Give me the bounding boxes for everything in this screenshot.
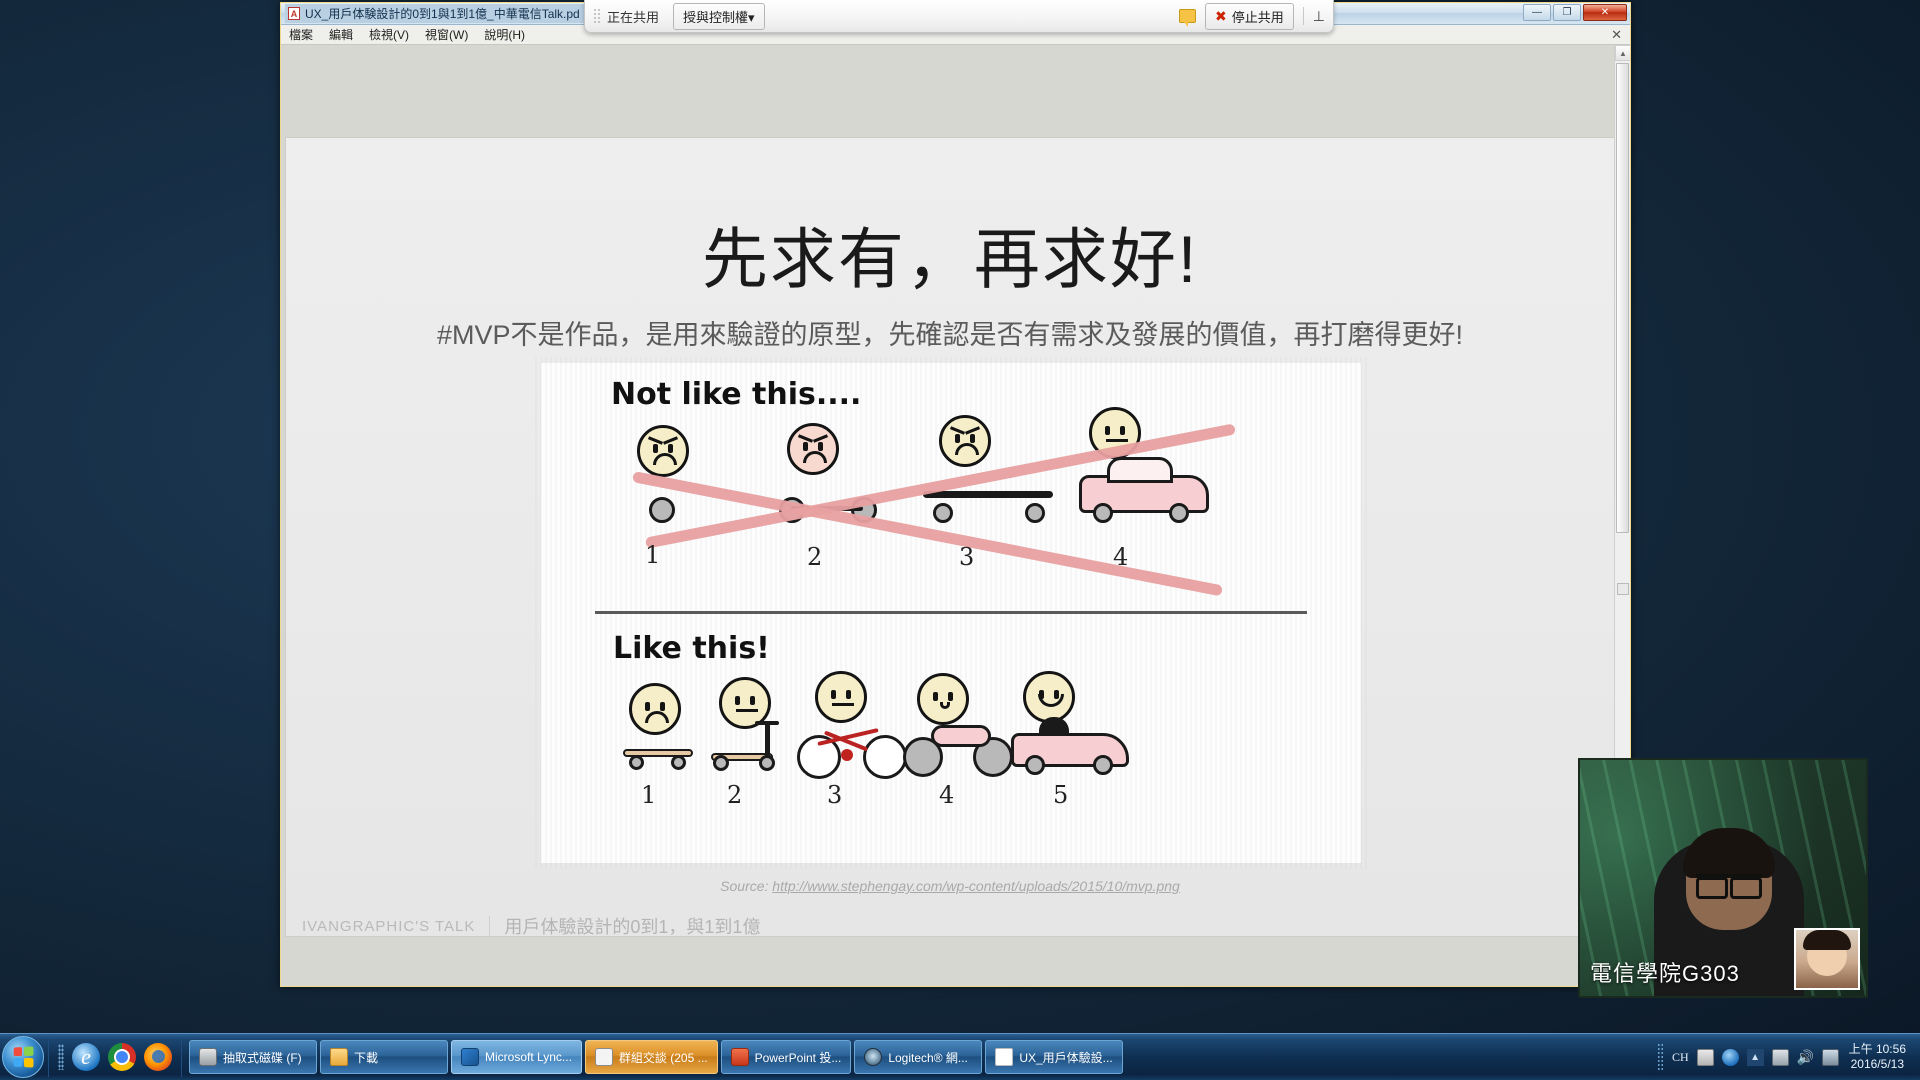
- room-label: 電信學院G303: [1590, 956, 1740, 988]
- taskbar-item-lync[interactable]: Microsoft Lync...: [451, 1040, 582, 1074]
- network-icon[interactable]: [1822, 1049, 1839, 1066]
- taskbar-item-label: 下載: [354, 1049, 378, 1066]
- slide-subtitle: #MVP不是作品，是用來驗證的原型，先確認是否有需求及發展的價值，再打磨得更好!: [286, 313, 1614, 352]
- chat-bubble-icon[interactable]: [1179, 9, 1196, 23]
- face-content-4: [917, 673, 969, 725]
- firefox-icon[interactable]: [144, 1043, 172, 1071]
- menu-item-view[interactable]: 檢視(V): [369, 26, 409, 43]
- keyboard-ime-icon[interactable]: [1697, 1049, 1714, 1066]
- scrollbar-thumb[interactable]: [1616, 63, 1629, 533]
- source-credit: Source: http://www.stephengay.com/wp-con…: [286, 878, 1614, 894]
- footer-separator: [489, 916, 490, 936]
- taskbar-item-logitech-webcam[interactable]: Logitech® 網...: [854, 1040, 982, 1074]
- taskbar-item-label: Logitech® 網...: [888, 1049, 968, 1066]
- taskbar-item-label: 抽取式磁碟 (F): [223, 1049, 302, 1066]
- pdf-icon: [995, 1048, 1013, 1066]
- webcam-overlay[interactable]: 電信學院G303: [1578, 758, 1868, 998]
- figure-number-good-3: 3: [827, 781, 842, 809]
- figure-number-good-4: 4: [939, 781, 954, 809]
- menu-item-window[interactable]: 視窗(W): [425, 26, 468, 43]
- group-chat-icon: [595, 1048, 613, 1066]
- windows-flag-icon: [14, 1046, 34, 1067]
- secondary-video-thumbnail[interactable]: [1794, 928, 1860, 990]
- chrome-icon[interactable]: [108, 1043, 136, 1071]
- menu-item-file[interactable]: 檔案: [289, 26, 313, 43]
- face-neutral-3: [815, 671, 867, 723]
- drag-grip-icon[interactable]: [1657, 1043, 1664, 1071]
- pdf-icon: [288, 7, 300, 20]
- figure-number-good-1: 1: [641, 781, 656, 809]
- face-angry-2: [787, 423, 839, 475]
- figure-number-bad-1: 1: [645, 541, 660, 569]
- window-controls: — ❐ ✕: [1523, 4, 1627, 21]
- presenter-hair: [1683, 828, 1775, 878]
- ie-icon[interactable]: [72, 1043, 100, 1071]
- face-angry-3: [939, 415, 991, 467]
- taskbar-item-label: UX_用戶体驗設...: [1019, 1049, 1112, 1066]
- lync-sharing-toolbar: 正在共用 授與控制權▾ ✖ 停止共用 ⊥: [584, 0, 1334, 33]
- windows-start-orb[interactable]: [2, 1036, 44, 1078]
- taskbar-item-group-chat[interactable]: 群組交談 (205 ...: [585, 1040, 718, 1074]
- taskbar-item-downloads[interactable]: 下載: [320, 1040, 448, 1074]
- face-happy-5: [1023, 671, 1075, 723]
- stop-sharing-label: 停止共用: [1232, 7, 1284, 26]
- drag-grip-icon[interactable]: [58, 1044, 64, 1070]
- scroll-up-arrow[interactable]: ▲: [1615, 45, 1630, 61]
- volume-speaker-icon[interactable]: 🔊: [1797, 1049, 1814, 1066]
- presenter-head: [1686, 834, 1772, 930]
- taskbar-item-pdf[interactable]: UX_用戶体驗設...: [985, 1040, 1122, 1074]
- scrollbar-split-handle[interactable]: [1617, 583, 1629, 595]
- figure-bad-label: Not like this....: [611, 377, 861, 412]
- chevron-down-icon: ▾: [748, 10, 755, 25]
- webcam-icon: [864, 1048, 882, 1066]
- powerpoint-icon: [731, 1048, 749, 1066]
- taskbar-item-removable-drive[interactable]: 抽取式磁碟 (F): [189, 1040, 317, 1074]
- vehicle-wheel-single: [649, 497, 675, 523]
- figure-number-bad-2: 2: [807, 543, 822, 571]
- clock-date: 2016/5/13: [1849, 1057, 1906, 1072]
- figure-good-label: Like this!: [613, 631, 770, 666]
- pdf-page: 先求有，再求好! #MVP不是作品，是用來驗證的原型，先確認是否有需求及發展的價…: [285, 137, 1615, 937]
- clock-time: 上午 10:56: [1849, 1042, 1906, 1057]
- pin-icon[interactable]: ⊥: [1313, 8, 1325, 25]
- usb-eject-icon[interactable]: [1772, 1049, 1789, 1066]
- help-question-icon[interactable]: [1722, 1049, 1739, 1066]
- slide-footer: IVANGRAPHIC'S TALK 用戶体驗設計的0到1，與1到1億: [302, 913, 760, 939]
- usb-drive-icon: [199, 1048, 217, 1066]
- language-indicator[interactable]: CH: [1672, 1050, 1689, 1065]
- windows-taskbar: 抽取式磁碟 (F) 下載 Microsoft Lync... 群組交談 (205…: [0, 1033, 1920, 1080]
- menu-item-help[interactable]: 說明(H): [484, 26, 525, 43]
- figure-number-bad-4: 4: [1113, 543, 1128, 571]
- close-button[interactable]: ✕: [1583, 4, 1627, 21]
- adobe-reader-window: UX_用戶体験設計的0到1與1到1億_中華電信Talk.pdf - Adobe …: [280, 2, 1631, 987]
- footer-brand: IVANGRAPHIC'S TALK: [302, 918, 475, 935]
- stop-sharing-button[interactable]: ✖ 停止共用: [1205, 3, 1294, 30]
- sharing-toolbar-right: ✖ 停止共用 ⊥: [1179, 3, 1325, 30]
- toolbar-separator: [1303, 7, 1304, 25]
- system-tray: CH ▲ 🔊 上午 10:56 2016/5/13: [1657, 1042, 1920, 1072]
- taskbar-buttons: 抽取式磁碟 (F) 下載 Microsoft Lync... 群組交談 (205…: [189, 1040, 1123, 1074]
- minimize-button[interactable]: —: [1523, 4, 1551, 21]
- folder-download-icon: [330, 1048, 348, 1066]
- sharing-status-label: 正在共用: [607, 7, 659, 26]
- glasses-icon: [1696, 874, 1762, 891]
- face-angry-1: [637, 425, 689, 477]
- source-url[interactable]: http://www.stephengay.com/wp-content/upl…: [772, 878, 1180, 894]
- taskbar-item-label: Microsoft Lync...: [485, 1050, 572, 1064]
- mvp-illustration: Not like this....: [541, 363, 1361, 863]
- restore-button[interactable]: ❐: [1553, 4, 1581, 21]
- taskbar-item-label: PowerPoint 投...: [755, 1049, 842, 1066]
- window-title-group: UX_用戶体験設計的0到1與1到1億_中華電信Talk.pdf - Adobe: [285, 4, 585, 23]
- quick-launch-bar: [48, 1037, 182, 1077]
- close-document-icon[interactable]: ✕: [1611, 27, 1622, 43]
- red-x-icon: ✖: [1215, 8, 1227, 25]
- face-sad-1: [629, 683, 681, 735]
- taskbar-item-powerpoint[interactable]: PowerPoint 投...: [721, 1040, 852, 1074]
- taskbar-item-label: 群組交談 (205 ...: [619, 1049, 708, 1066]
- figure-number-good-5: 5: [1053, 781, 1068, 809]
- grant-control-button[interactable]: 授與控制權▾: [673, 3, 765, 30]
- document-area: 先求有，再求好! #MVP不是作品，是用來驗證的原型，先確認是否有需求及發展的價…: [281, 45, 1630, 986]
- menu-item-edit[interactable]: 編輯: [329, 26, 353, 43]
- pip-hair: [1803, 930, 1851, 950]
- clock[interactable]: 上午 10:56 2016/5/13: [1847, 1042, 1912, 1072]
- figure-number-good-2: 2: [727, 781, 742, 809]
- lync-icon: [461, 1048, 479, 1066]
- source-prefix: Source:: [720, 878, 772, 894]
- window-title: UX_用戶体験設計的0到1與1到1億_中華電信Talk.pdf - Adobe: [305, 5, 579, 22]
- grant-control-label: 授與控制權: [683, 10, 748, 25]
- figure-number-bad-3: 3: [959, 543, 974, 571]
- drag-grip-icon[interactable]: [593, 8, 601, 24]
- show-hidden-icons-icon[interactable]: ▲: [1747, 1049, 1764, 1066]
- footer-subtitle: 用戶体驗設計的0到1，與1到1億: [504, 913, 760, 939]
- slide-title: 先求有，再求好!: [286, 206, 1614, 302]
- figure-divider: [595, 611, 1307, 614]
